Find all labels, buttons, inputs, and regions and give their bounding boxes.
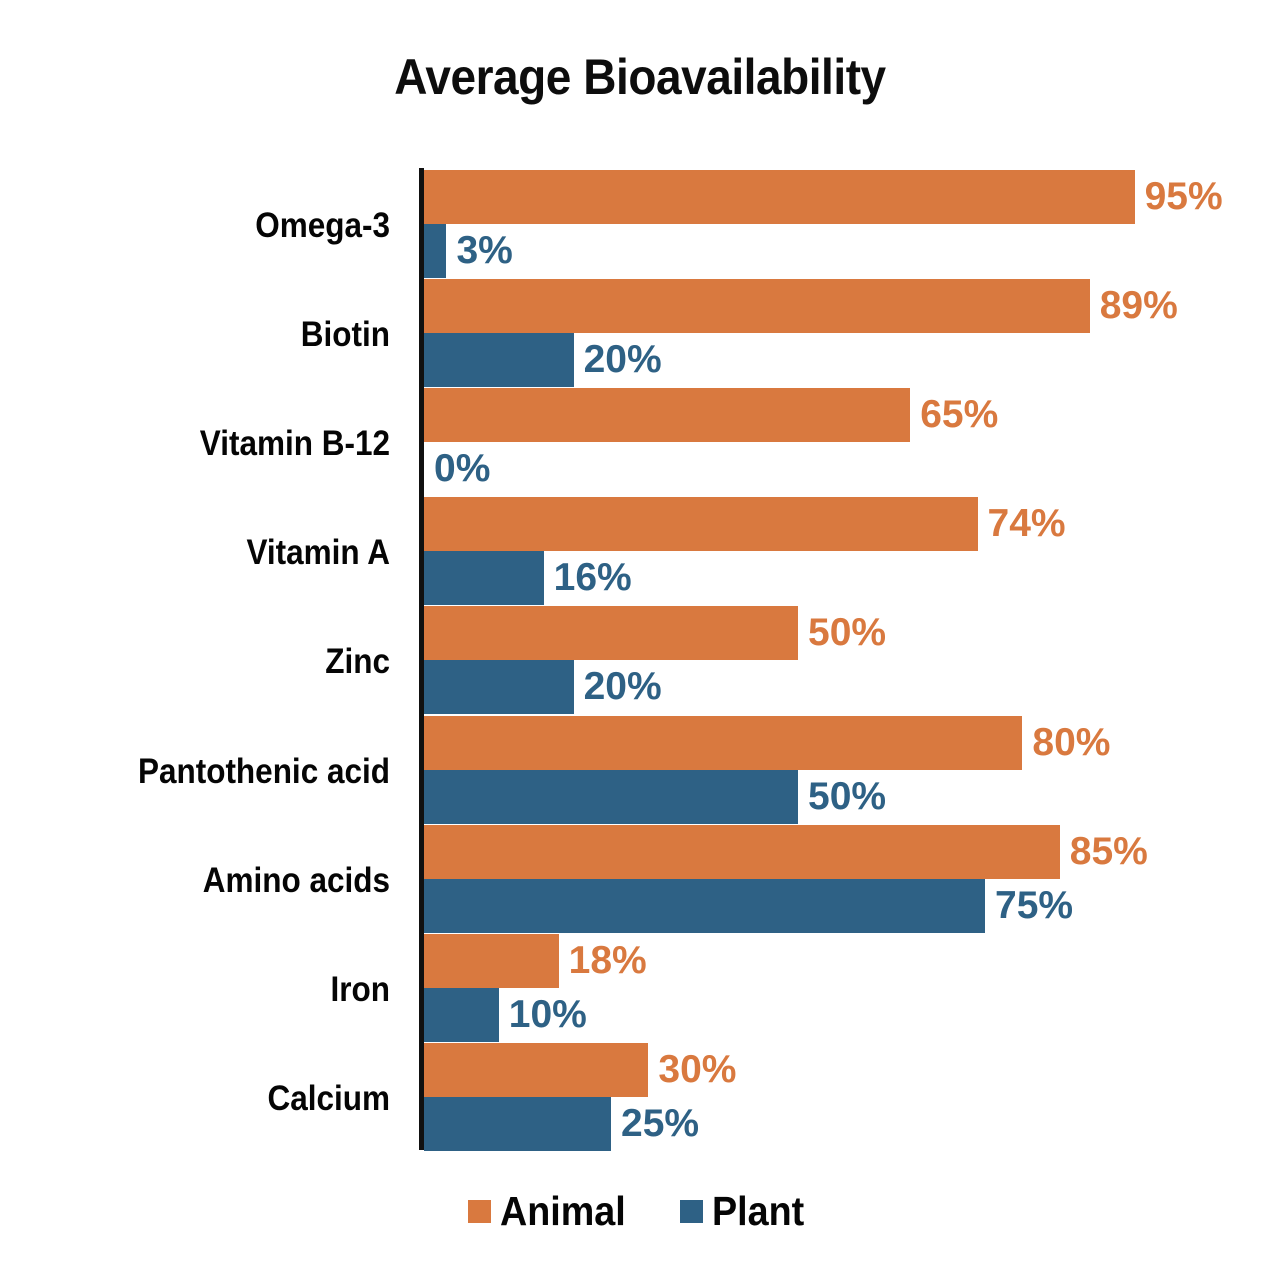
bar-row: 0% bbox=[424, 442, 1280, 496]
bar-animal[interactable] bbox=[424, 170, 1135, 224]
bar-row: 80% bbox=[424, 716, 1280, 770]
bar-animal[interactable] bbox=[424, 279, 1090, 333]
bar-row: 75% bbox=[424, 879, 1280, 933]
bar-row: 18% bbox=[424, 934, 1280, 988]
bar-plant[interactable] bbox=[424, 1097, 611, 1151]
category-label: Zinc bbox=[12, 642, 390, 682]
bar-row: 89% bbox=[424, 279, 1280, 333]
bar-value-label: 30% bbox=[658, 1048, 736, 1092]
bar-row: 30% bbox=[424, 1043, 1280, 1097]
bar-plant[interactable] bbox=[424, 224, 446, 278]
bar-plant[interactable] bbox=[424, 988, 499, 1042]
category-group: Pantothenic acid80%50% bbox=[0, 714, 1280, 823]
bar-value-label: 50% bbox=[808, 611, 886, 655]
category-group: Biotin89%20% bbox=[0, 277, 1280, 386]
legend-swatch-animal-icon bbox=[468, 1200, 491, 1223]
bar-value-label: 25% bbox=[621, 1102, 699, 1146]
bar-value-label: 89% bbox=[1100, 284, 1178, 328]
bar-row: 25% bbox=[424, 1097, 1280, 1151]
bar-row: 50% bbox=[424, 770, 1280, 824]
bar-plant[interactable] bbox=[424, 551, 544, 605]
bar-value-label: 95% bbox=[1145, 175, 1223, 219]
category-label: Iron bbox=[12, 970, 390, 1010]
bar-chart: Average Bioavailability Omega-395%3%Biot… bbox=[0, 0, 1280, 1280]
bar-value-label: 10% bbox=[509, 993, 587, 1037]
category-group: Amino acids85%75% bbox=[0, 823, 1280, 932]
category-label: Amino acids bbox=[12, 861, 390, 901]
bar-animal[interactable] bbox=[424, 716, 1022, 770]
bar-animal[interactable] bbox=[424, 825, 1060, 879]
bar-plant[interactable] bbox=[424, 333, 574, 387]
bar-value-label: 74% bbox=[988, 502, 1066, 546]
category-label: Omega-3 bbox=[12, 206, 390, 246]
bar-value-label: 3% bbox=[456, 229, 512, 273]
page-title: Average Bioavailability bbox=[51, 48, 1229, 106]
category-group: Omega-395%3% bbox=[0, 168, 1280, 277]
category-label: Vitamin B-12 bbox=[12, 424, 390, 464]
bar-row: 10% bbox=[424, 988, 1280, 1042]
category-label: Pantothenic acid bbox=[12, 752, 390, 792]
bar-animal[interactable] bbox=[424, 934, 559, 988]
legend-item-plant[interactable]: Plant bbox=[680, 1188, 812, 1235]
bar-value-label: 20% bbox=[584, 665, 662, 709]
bar-row: 3% bbox=[424, 224, 1280, 278]
category-group: Zinc50%20% bbox=[0, 604, 1280, 713]
bar-plant[interactable] bbox=[424, 879, 985, 933]
legend-item-animal[interactable]: Animal bbox=[468, 1188, 637, 1235]
category-label: Calcium bbox=[12, 1079, 390, 1119]
bar-value-label: 75% bbox=[995, 884, 1073, 928]
plot-area: Omega-395%3%Biotin89%20%Vitamin B-1265%0… bbox=[0, 168, 1280, 1150]
bar-plant[interactable] bbox=[424, 770, 798, 824]
bar-value-label: 0% bbox=[434, 447, 490, 491]
legend-swatch-plant-icon bbox=[680, 1200, 703, 1223]
category-label: Biotin bbox=[12, 315, 390, 355]
bar-animal[interactable] bbox=[424, 1043, 648, 1097]
legend-label: Animal bbox=[500, 1188, 626, 1235]
category-group: Calcium30%25% bbox=[0, 1041, 1280, 1150]
bar-row: 74% bbox=[424, 497, 1280, 551]
chart-legend: AnimalPlant bbox=[0, 1188, 1280, 1235]
bar-value-label: 65% bbox=[920, 393, 998, 437]
category-label: Vitamin A bbox=[12, 533, 390, 573]
bar-row: 65% bbox=[424, 388, 1280, 442]
bar-plant[interactable] bbox=[424, 660, 574, 714]
bar-row: 50% bbox=[424, 606, 1280, 660]
bar-animal[interactable] bbox=[424, 497, 978, 551]
bar-row: 85% bbox=[424, 825, 1280, 879]
bar-row: 20% bbox=[424, 333, 1280, 387]
bar-value-label: 18% bbox=[569, 939, 647, 983]
bar-value-label: 50% bbox=[808, 775, 886, 819]
bar-row: 16% bbox=[424, 551, 1280, 605]
bar-value-label: 16% bbox=[554, 556, 632, 600]
bar-row: 20% bbox=[424, 660, 1280, 714]
legend-label: Plant bbox=[712, 1188, 804, 1235]
bar-animal[interactable] bbox=[424, 606, 798, 660]
category-group: Vitamin B-1265%0% bbox=[0, 386, 1280, 495]
bar-value-label: 85% bbox=[1070, 830, 1148, 874]
bar-value-label: 80% bbox=[1032, 721, 1110, 765]
category-group: Iron18%10% bbox=[0, 932, 1280, 1041]
bar-value-label: 20% bbox=[584, 338, 662, 382]
category-group: Vitamin A74%16% bbox=[0, 495, 1280, 604]
bar-row: 95% bbox=[424, 170, 1280, 224]
bar-animal[interactable] bbox=[424, 388, 910, 442]
